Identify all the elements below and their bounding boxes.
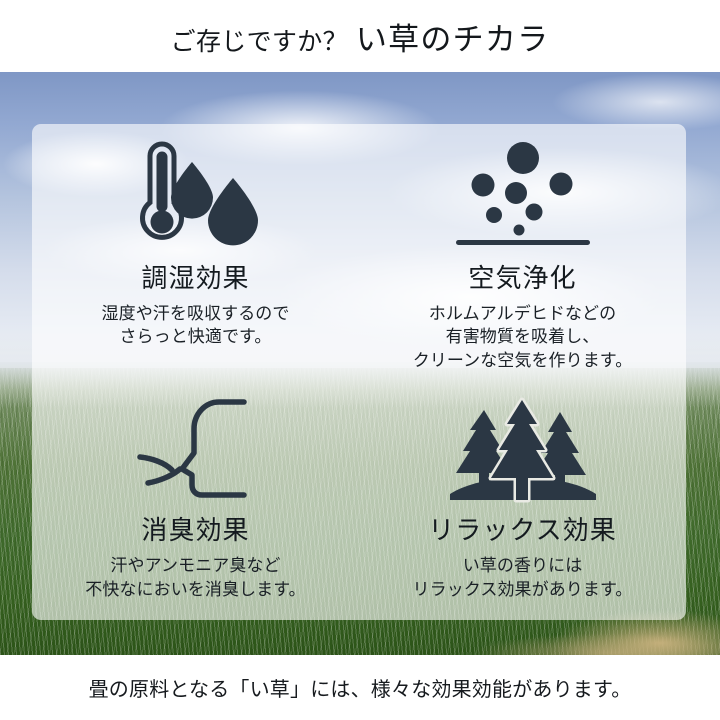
page-title-main: い草のチカラ [356,14,549,59]
feature-description-line: 湿度や汗を吸収するので [102,302,290,325]
feature-title: 空気浄化 [468,258,576,295]
dust-particles-icon [454,136,592,252]
thermometer-droplets-icon [122,136,270,252]
feature-card-relaxation: リラックス効果 い草の香りには リラックス効果があります。 [359,372,686,620]
feature-grid: 調湿効果 湿度や汗を吸収するので さらっと快適です。 [32,124,686,620]
feature-description-line: クリーンな空気を作ります。 [413,349,633,372]
feature-description: 湿度や汗を吸収するので さらっと快適です。 [102,302,290,349]
feature-description-line: 汗やアンモニア臭など [85,554,305,577]
face-profile-breath-icon [126,388,266,504]
feature-title: 調湿効果 [141,258,249,295]
feature-description-line: リラックス効果があります。 [413,578,633,601]
feature-description: い草の香りには リラックス効果があります。 [413,554,633,601]
page-title-lead: ご存じですか？ [171,22,348,58]
feature-description-line: い草の香りには [413,554,633,577]
feature-description-line: 不快なにおいを消臭します。 [85,578,305,601]
pine-trees-icon [448,388,598,504]
footer-caption: 畳の原料となる「い草」には、様々な効果効能があります。 [89,673,632,702]
feature-description-line: ホルムアルデヒドなどの [413,302,633,325]
feature-description: ホルムアルデヒドなどの 有害物質を吸着し、 クリーンな空気を作ります。 [413,302,633,372]
footer-band: 畳の原料となる「い草」には、様々な効果効能があります。 [0,655,720,720]
feature-panel: 調湿効果 湿度や汗を吸収するので さらっと快適です。 [32,124,686,620]
feature-title: 消臭効果 [141,510,249,547]
feature-description-line: さらっと快適です。 [102,325,290,348]
feature-description-line: 有害物質を吸着し、 [413,325,633,348]
feature-card-air-purification: 空気浄化 ホルムアルデヒドなどの 有害物質を吸着し、 クリーンな空気を作ります。 [359,124,686,372]
header-band: ご存じですか？ い草のチカラ [0,0,720,72]
feature-title: リラックス効果 [428,510,617,547]
feature-card-deodorizing: 消臭効果 汗やアンモニア臭など 不快なにおいを消臭します。 [32,372,359,620]
page-title: ご存じですか？ い草のチカラ [171,14,550,59]
feature-card-humidity-control: 調湿効果 湿度や汗を吸収するので さらっと快適です。 [32,124,359,372]
feature-description: 汗やアンモニア臭など 不快なにおいを消臭します。 [85,554,305,601]
